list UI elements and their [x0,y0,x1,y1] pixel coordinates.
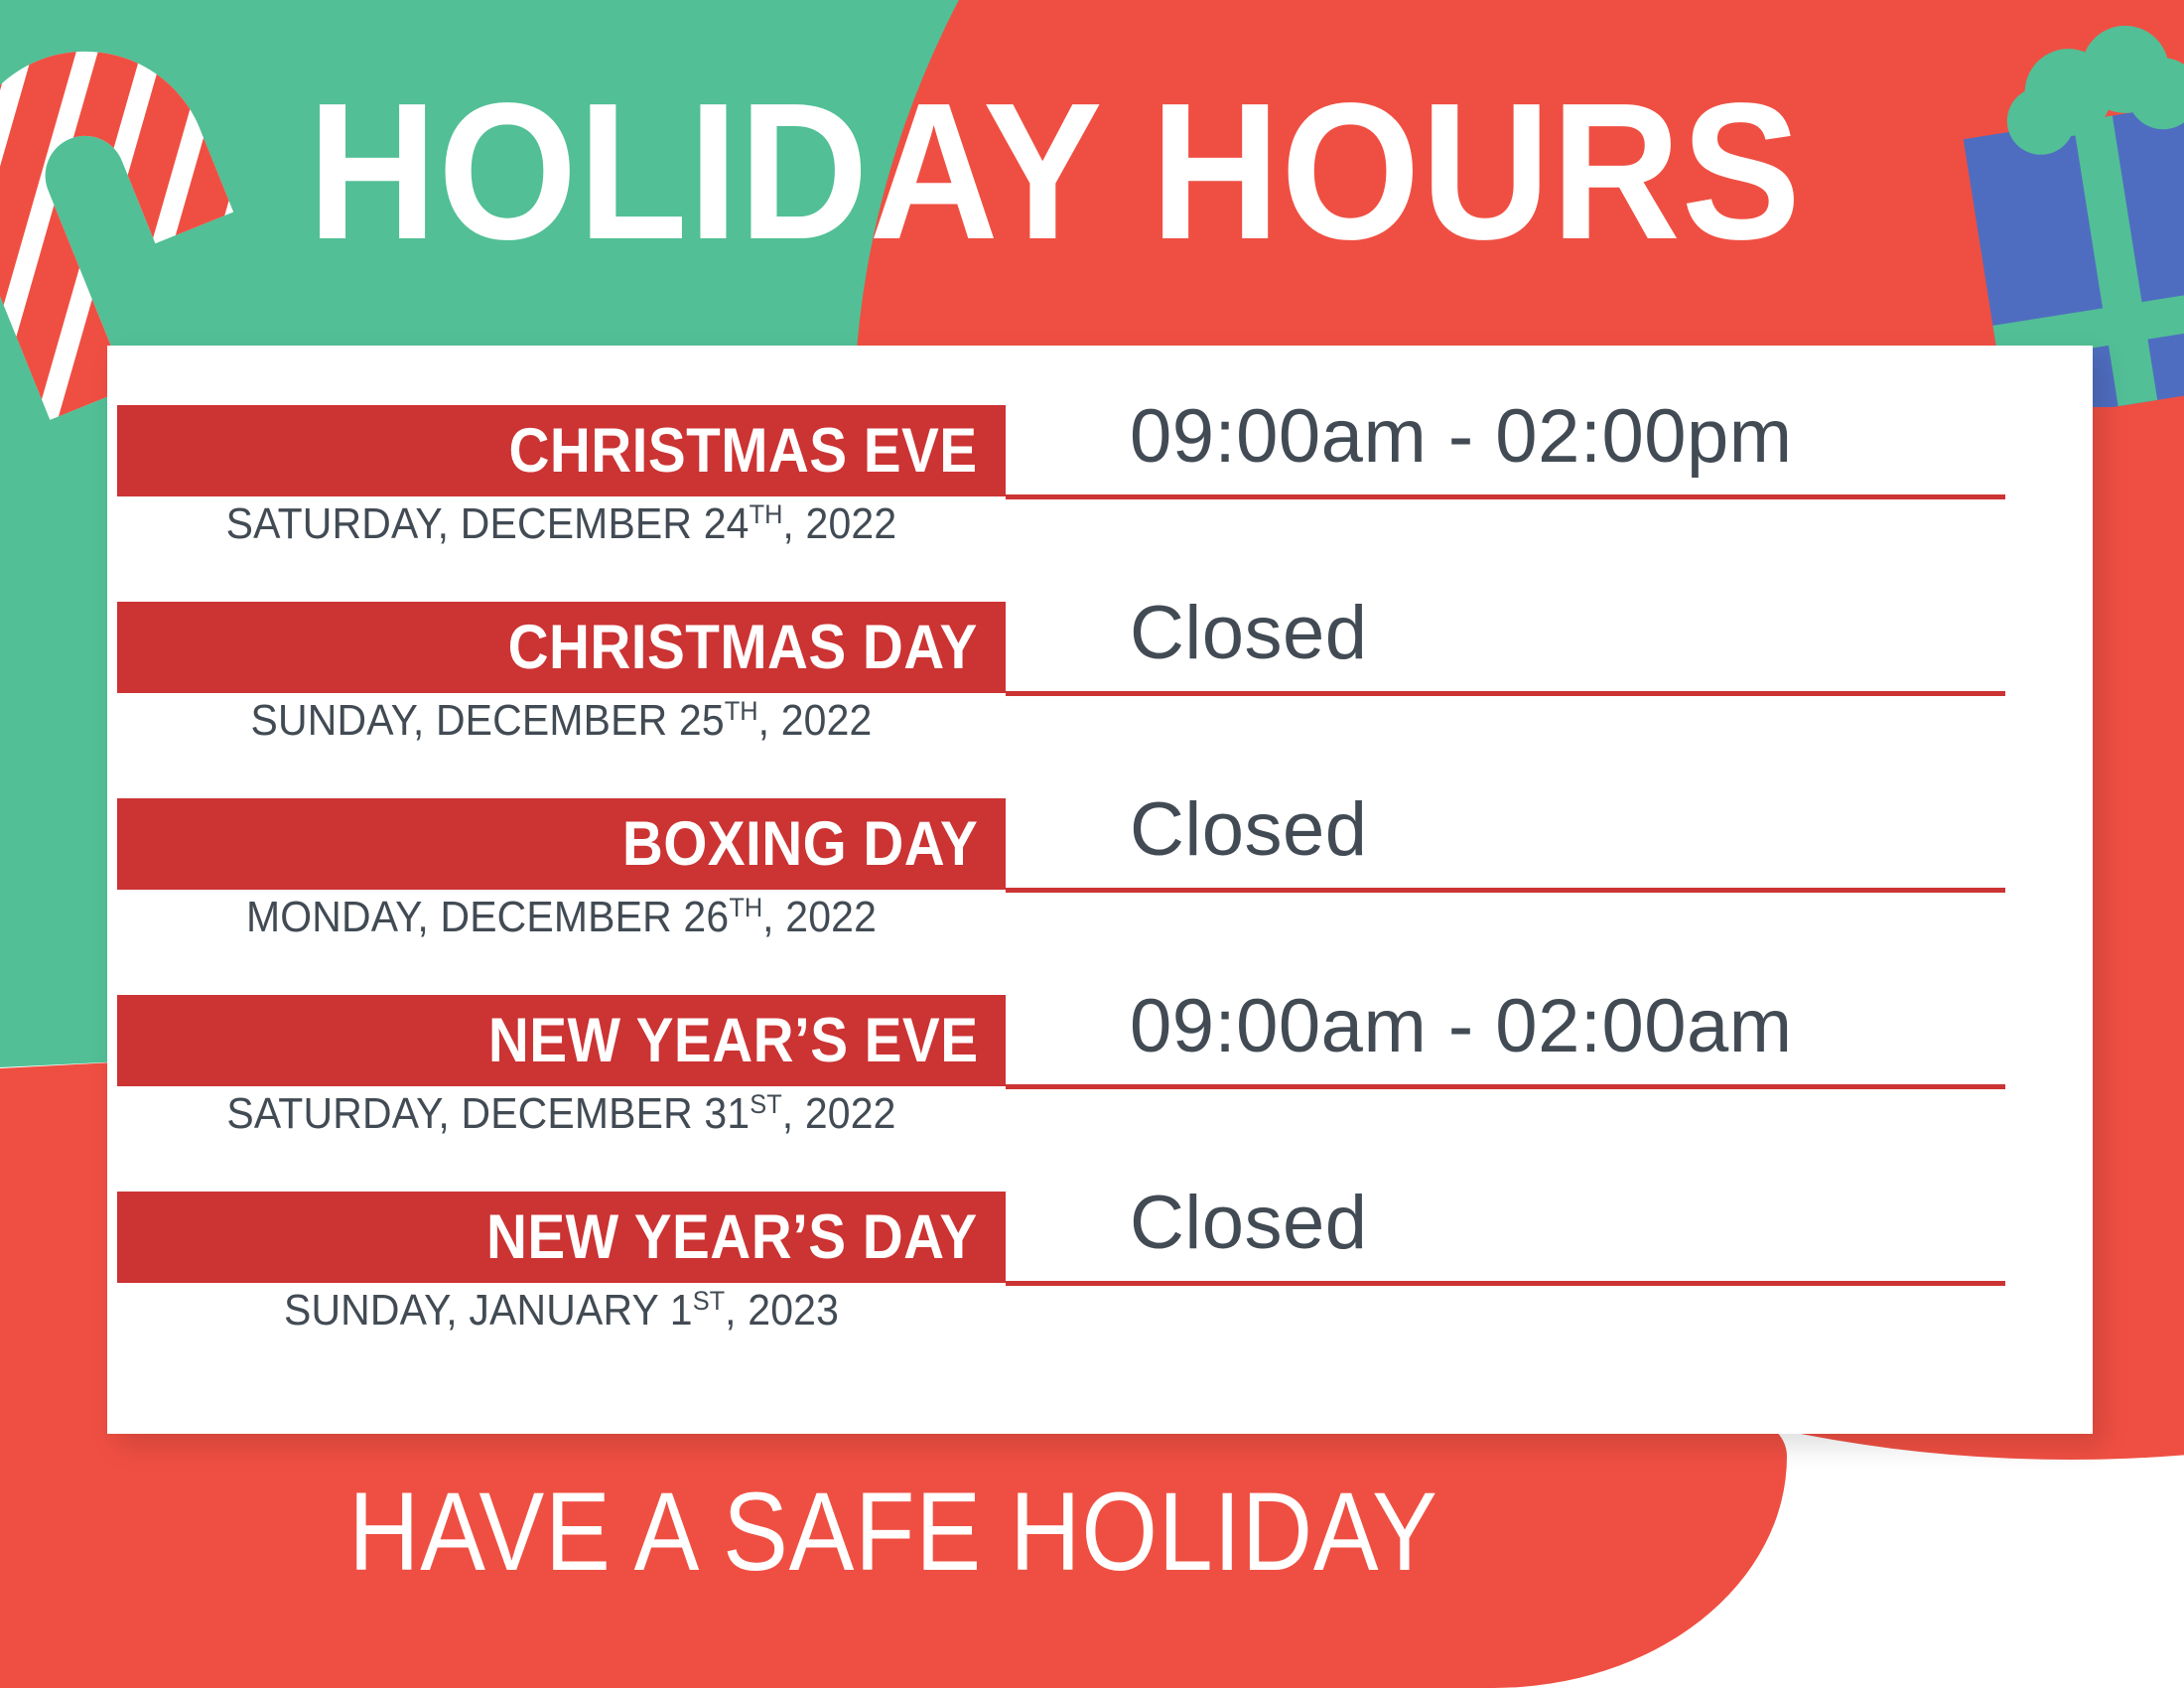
holiday-name: NEW YEAR’S DAY [486,1201,978,1273]
holiday-name: CHRISTMAS DAY [508,612,978,683]
table-row: CHRISTMAS EVE SATURDAY, DECEMBER 24TH, 2… [107,405,2093,604]
holiday-date: SATURDAY, DECEMBER 31ST, 2022 [148,1088,974,1139]
holiday-name: BOXING DAY [622,808,978,880]
table-row: NEW YEAR’S EVE SATURDAY, DECEMBER 31ST, … [107,995,2093,1194]
holiday-label-bar: NEW YEAR’S EVE [117,995,1006,1086]
schedule-rows: CHRISTMAS EVE SATURDAY, DECEMBER 24TH, 2… [107,346,2093,1434]
holiday-name: NEW YEAR’S EVE [487,1005,978,1076]
holiday-label-bar: NEW YEAR’S DAY [117,1192,1006,1283]
table-row: NEW YEAR’S DAY SUNDAY, JANUARY 1ST, 2023… [107,1192,2093,1390]
holiday-hours-poster: HOLIDAY HOURS CHRISTMAS EVE SATURDAY, DE… [0,0,2184,1688]
holiday-date-year: , 2022 [758,696,873,745]
holiday-label-bar: CHRISTMAS DAY [117,602,1006,693]
hours-underline [1006,1281,2005,1286]
holiday-hours: Closed [1130,786,1368,873]
holiday-hours: 09:00am - 02:00pm [1130,393,1793,480]
holiday-date-ordinal: TH [725,695,758,726]
holiday-hours: 09:00am - 02:00am [1130,983,1793,1069]
holiday-date-weekday: SATURDAY, DECEMBER 24 [226,499,750,548]
holiday-label-bar: CHRISTMAS EVE [117,405,1006,496]
holiday-date-weekday: MONDAY, DECEMBER 26 [246,893,729,941]
page-title: HOLIDAY HOURS [308,77,1806,266]
holiday-date: SUNDAY, DECEMBER 25TH, 2022 [148,695,974,746]
holiday-date-ordinal: ST [750,1088,781,1119]
holiday-date: SATURDAY, DECEMBER 24TH, 2022 [148,498,974,549]
hours-underline [1006,1084,2005,1089]
table-row: BOXING DAY MONDAY, DECEMBER 26TH, 2022 C… [107,798,2093,997]
holiday-date: MONDAY, DECEMBER 26TH, 2022 [148,892,974,942]
holiday-date-weekday: SUNDAY, JANUARY 1 [284,1286,693,1335]
table-row: CHRISTMAS DAY SUNDAY, DECEMBER 25TH, 202… [107,602,2093,800]
holiday-date-year: , 2022 [762,893,877,941]
holiday-date-weekday: SUNDAY, DECEMBER 25 [250,696,724,745]
holiday-date: SUNDAY, JANUARY 1ST, 2023 [148,1285,974,1336]
holiday-date-year: , 2022 [782,1089,896,1138]
holiday-date-year: , 2022 [782,499,896,548]
holiday-date-ordinal: ST [693,1285,725,1316]
holiday-date-weekday: SATURDAY, DECEMBER 31 [226,1089,750,1138]
hours-underline [1006,691,2005,696]
hours-underline [1006,888,2005,893]
holiday-name: CHRISTMAS EVE [509,415,978,487]
holiday-date-ordinal: TH [750,498,783,529]
holiday-date-ordinal: TH [729,892,762,922]
footer-banner-text: HAVE A SAFE HOLIDAY [107,1468,1680,1596]
holiday-date-year: , 2023 [725,1286,839,1335]
holiday-hours: Closed [1130,1180,1368,1266]
holiday-label-bar: BOXING DAY [117,798,1006,890]
hours-underline [1006,494,2005,499]
holiday-hours: Closed [1130,590,1368,676]
